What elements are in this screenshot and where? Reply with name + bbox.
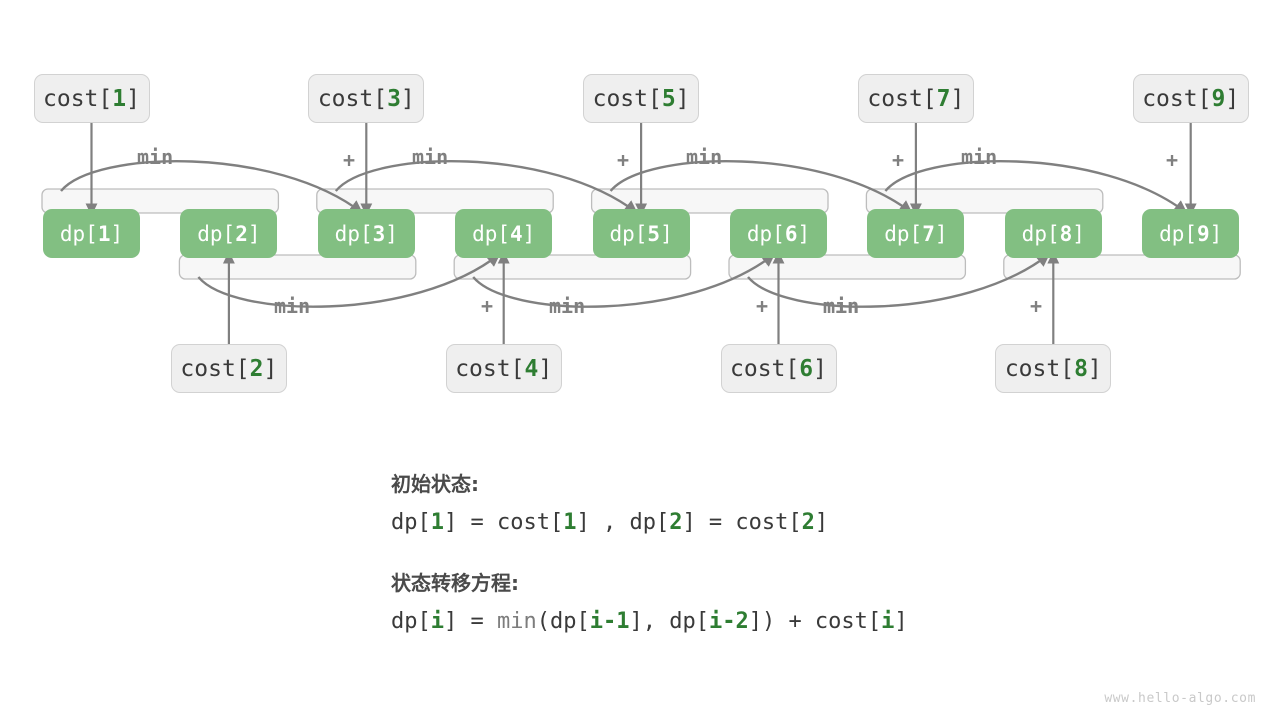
cost-node-label: cost[9] (1142, 86, 1239, 112)
cost-node-label: cost[4] (455, 356, 552, 382)
dp-node-label: dp[3] (335, 222, 398, 246)
diagram-canvas: dp[1]dp[2]dp[3]dp[4]dp[5]dp[6]dp[7]dp[8]… (0, 0, 1280, 720)
cost-node-label: cost[2] (180, 356, 277, 382)
label-plus-bottom-1: + (481, 294, 493, 318)
formula-token: ]) + cost[ (749, 609, 881, 634)
formula-token: i (881, 609, 894, 634)
dp-node-label: dp[8] (1022, 222, 1085, 246)
formula-token: ] (815, 510, 828, 535)
dp-node-label: dp[7] (884, 222, 947, 246)
formula-token: ] (894, 609, 907, 634)
label-plus-top-4: + (1166, 148, 1178, 172)
label-min-bottom-4: min (823, 294, 859, 318)
label-min-bottom-1: min (274, 294, 310, 318)
bracket-bottom-2 (454, 255, 690, 279)
formula-token: ] , dp[ (576, 510, 669, 535)
transition-heading: 状态转移方程: (391, 567, 519, 596)
formula-token: i (431, 609, 444, 634)
dp-node-6: dp[6] (730, 209, 827, 258)
transition-formula: dp[i] = min(dp[i-1], dp[i-2]) + cost[i] (391, 609, 908, 634)
formula-token: ] = cost[ (682, 510, 801, 535)
dp-node-label: dp[1] (60, 222, 123, 246)
formula-token: ] = (444, 609, 497, 634)
formula-token: dp[ (391, 609, 431, 634)
label-plus-bottom-3: + (1030, 294, 1042, 318)
label-min-top-1: min (137, 145, 173, 169)
cost-node-label: cost[3] (318, 86, 415, 112)
dp-node-label: dp[5] (609, 222, 672, 246)
dp-node-8: dp[8] (1005, 209, 1102, 258)
bracket-bottom-3 (729, 255, 965, 279)
dp-node-9: dp[9] (1142, 209, 1239, 258)
cost-node-label: cost[7] (867, 86, 964, 112)
formula-token: 1 (563, 510, 576, 535)
cost-node-3: cost[3] (308, 74, 424, 123)
dp-node-label: dp[2] (197, 222, 260, 246)
cost-node-6: cost[6] (721, 344, 837, 393)
formula-token: i-2 (709, 609, 749, 634)
label-plus-top-1: + (343, 148, 355, 172)
formula-token: dp[ (391, 510, 431, 535)
cost-node-label: cost[5] (593, 86, 690, 112)
formula-token: i-1 (590, 609, 630, 634)
dp-node-5: dp[5] (593, 209, 690, 258)
cost-node-1: cost[1] (34, 74, 150, 123)
bracket-bottom-4 (1004, 255, 1240, 279)
formula-token: min (497, 609, 537, 634)
dp-node-label: dp[4] (472, 222, 535, 246)
formula-token: ], dp[ (629, 609, 708, 634)
cost-node-label: cost[1] (43, 86, 140, 112)
cost-node-9: cost[9] (1133, 74, 1249, 123)
bracket-bottom-1 (179, 255, 415, 279)
bracket-group-bottom (179, 255, 1240, 279)
dp-node-label: dp[9] (1159, 222, 1222, 246)
cost-node-4: cost[4] (446, 344, 562, 393)
label-plus-bottom-2: + (756, 294, 768, 318)
formula-token: (dp[ (537, 609, 590, 634)
dp-node-7: dp[7] (867, 209, 964, 258)
label-min-bottom-2: min (549, 294, 585, 318)
cost-node-label: cost[8] (1005, 356, 1102, 382)
formula-token: 2 (802, 510, 815, 535)
label-plus-top-3: + (892, 148, 904, 172)
watermark: www.hello-algo.com (1104, 691, 1256, 706)
cost-node-2: cost[2] (171, 344, 287, 393)
formula-token: ] = cost[ (444, 510, 563, 535)
label-plus-top-2: + (617, 148, 629, 172)
dp-node-2: dp[2] (180, 209, 277, 258)
cost-node-7: cost[7] (858, 74, 974, 123)
cost-node-8: cost[8] (995, 344, 1111, 393)
dp-node-4: dp[4] (455, 209, 552, 258)
dp-node-label: dp[6] (747, 222, 810, 246)
label-min-top-3: min (686, 145, 722, 169)
initial-state-heading: 初始状态: (391, 468, 479, 497)
cost-node-label: cost[6] (730, 356, 827, 382)
formula-token: 1 (431, 510, 444, 535)
dp-node-1: dp[1] (43, 209, 140, 258)
cost-node-5: cost[5] (583, 74, 699, 123)
label-min-top-4: min (961, 145, 997, 169)
label-min-top-2: min (412, 145, 448, 169)
formula-token: 2 (669, 510, 682, 535)
initial-state-formula: dp[1] = cost[1] , dp[2] = cost[2] (391, 510, 828, 535)
dp-node-3: dp[3] (318, 209, 415, 258)
